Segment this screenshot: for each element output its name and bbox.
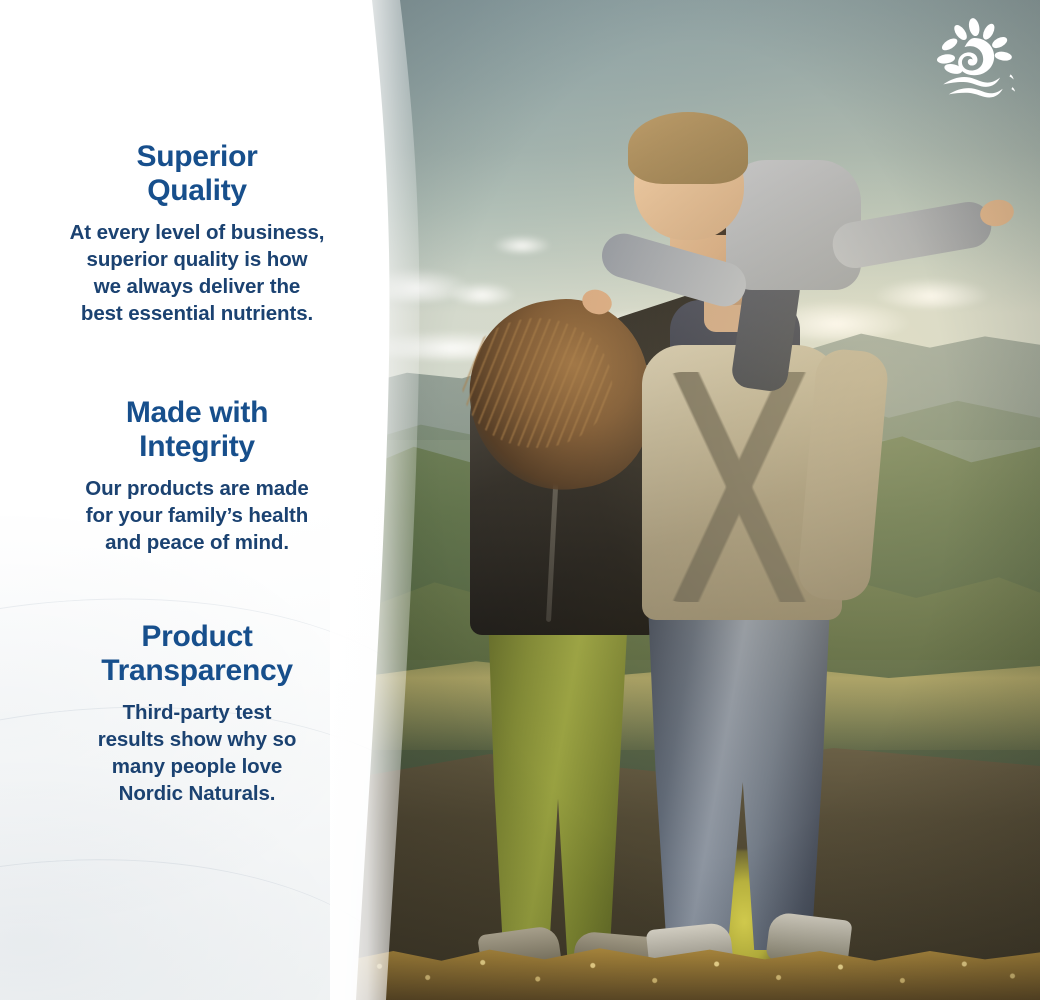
photo-vignette <box>352 0 1040 1000</box>
feature-body: At every level of business, superior qua… <box>36 220 358 327</box>
promo-panel: Superior Quality At every level of busin… <box>0 0 1040 1000</box>
feature-list: Superior Quality At every level of busin… <box>36 0 358 1000</box>
nordic-naturals-sun-wave-logo <box>930 18 1022 98</box>
feature-body: Third-party test results show why so man… <box>36 700 358 807</box>
feature-made-with-integrity: Made with Integrity Our products are mad… <box>36 396 358 557</box>
feature-product-transparency: Product Transparency Third-party test re… <box>36 620 358 808</box>
family-on-mountain-photo <box>352 0 1040 1000</box>
feature-heading: Superior Quality <box>36 140 358 208</box>
feature-superior-quality: Superior Quality At every level of busin… <box>36 140 358 328</box>
feature-body: Our products are made for your family’s … <box>36 476 358 557</box>
feature-heading: Product Transparency <box>36 620 358 688</box>
feature-heading: Made with Integrity <box>36 396 358 464</box>
